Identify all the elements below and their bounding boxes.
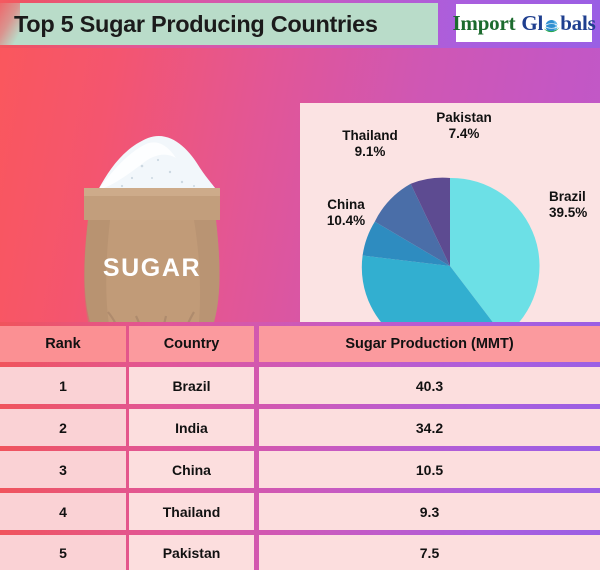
table-header-country: Country [129,326,254,362]
pie-label-brazil-name: Brazil [549,189,586,204]
cell-production: 10.5 [259,451,600,488]
cell-production: 34.2 [259,409,600,446]
sugar-sack-illustration: SUGAR [62,126,242,341]
infographic-root: Top 5 Sugar Producing Countries Import G… [0,0,600,570]
cell-rank: 4 [0,493,126,530]
table-row[interactable]: 4 Thailand 9.3 [0,493,600,530]
cell-country: China [129,451,254,488]
sugar-sack-label: SUGAR [103,254,201,282]
data-table: Rank Country Sugar Production (MMT) 1 Br… [0,322,600,570]
cell-production: 40.3 [259,367,600,404]
pie-label-china-name: China [327,197,365,212]
cell-rank: 5 [0,535,126,570]
pie-label-pakistan-percent: 7.4% [418,126,510,142]
logo-word-bals: bals [560,11,595,36]
cell-country: India [129,409,254,446]
pie-label-thailand: Thailand 9.1% [324,128,416,159]
cell-country: Pakistan [129,535,254,570]
cell-rank: 1 [0,367,126,404]
cell-rank: 3 [0,451,126,488]
table-row[interactable]: 2 India 34.2 [0,409,600,446]
logo-word-import: Import [452,11,515,36]
pie-label-thailand-name: Thailand [342,128,398,143]
cell-production: 9.3 [259,493,600,530]
pie-label-brazil-percent: 39.5% [549,205,587,221]
table-row[interactable]: 1 Brazil 40.3 [0,367,600,404]
logo-word-gl: Gl [521,11,543,36]
cell-production: 7.5 [259,535,600,570]
header-band: Top 5 Sugar Producing Countries Import G… [0,0,600,48]
table-header-rank: Rank [0,326,126,362]
table-row[interactable]: 3 China 10.5 [0,451,600,488]
middle-band: SUGAR Brazil 39.5% [0,48,600,322]
pie-label-china-percent: 10.4% [304,213,388,229]
table-header-production: Sugar Production (MMT) [259,326,600,362]
table-row[interactable]: 5 Pakistan 7.5 [0,535,600,570]
globe-icon [543,16,560,33]
pie-label-thailand-percent: 9.1% [324,144,416,160]
brand-logo-text: Import Gl bals [452,11,595,36]
pie-label-pakistan: Pakistan 7.4% [418,110,510,141]
title-plate: Top 5 Sugar Producing Countries [0,3,438,45]
cell-country: Brazil [129,367,254,404]
cell-country: Thailand [129,493,254,530]
pie-label-brazil: Brazil 39.5% [549,189,587,220]
page-title: Top 5 Sugar Producing Countries [14,11,378,38]
brand-logo[interactable]: Import Gl bals [456,4,592,42]
cell-rank: 2 [0,409,126,446]
pie-label-china: China 10.4% [304,197,388,228]
pie-label-pakistan-name: Pakistan [436,110,492,125]
table-header-row: Rank Country Sugar Production (MMT) [0,326,600,362]
